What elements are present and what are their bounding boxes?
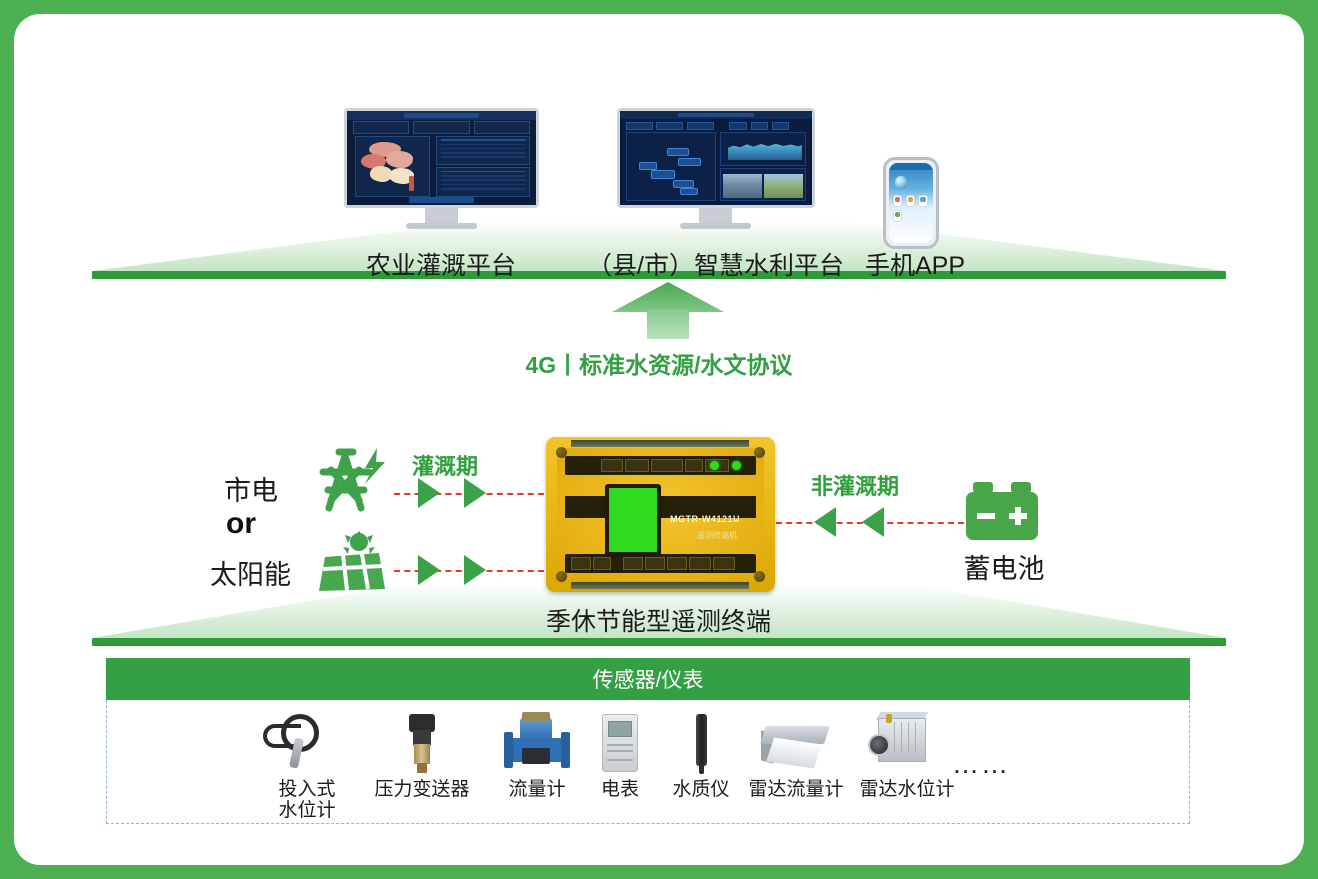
flow-arrow-right xyxy=(464,555,486,585)
battery-icon xyxy=(966,482,1038,540)
tab-chip[interactable] xyxy=(729,122,746,130)
meter-line xyxy=(607,744,633,746)
app-icon[interactable] xyxy=(893,210,902,222)
sensor-item-submersible-level-gauge[interactable]: 投入式 水位计 xyxy=(259,712,355,821)
table-row xyxy=(441,175,526,177)
sensor-panel-header: 传感器/仪表 xyxy=(106,658,1190,700)
network-topology-map xyxy=(626,132,716,202)
vent-line xyxy=(901,722,902,752)
sensor-label: 雷达水位计 xyxy=(854,780,960,801)
rtu-port xyxy=(623,557,643,570)
source-label-solar: 太阳能 xyxy=(210,553,291,592)
trend-chart-panel xyxy=(720,132,806,167)
rtu-device[interactable]: MGTR-W4121U 遥测终端机 xyxy=(546,437,775,592)
monitor-screen xyxy=(344,108,539,208)
table-row xyxy=(441,156,526,158)
monitor-foot xyxy=(406,223,477,229)
meter-line xyxy=(607,759,633,761)
solar-panel-icon xyxy=(317,531,393,593)
app-icon[interactable] xyxy=(893,195,902,207)
vent-line xyxy=(894,722,895,752)
rtu-port xyxy=(571,557,591,570)
vent-line xyxy=(908,722,909,752)
flow-arrow-left xyxy=(862,507,884,537)
sensor-item-radar-flow-meter[interactable]: 雷达流量计 xyxy=(741,712,851,801)
shelf-base-bar xyxy=(92,638,1226,646)
table-header xyxy=(441,139,526,141)
app-icon[interactable] xyxy=(918,195,927,207)
rtu-port xyxy=(651,459,683,472)
flow-meter-icon xyxy=(492,712,582,776)
sensor-item-pressure-transmitter[interactable]: 压力变送器 xyxy=(366,712,478,801)
rtu-port xyxy=(685,459,703,472)
topology-node xyxy=(673,180,694,188)
rtu-caption: 季休节能型遥测终端 xyxy=(546,602,1006,638)
battery-minus xyxy=(977,513,995,519)
device-agri-irrigation-platform[interactable] xyxy=(344,108,539,228)
device-label-agri: 农业灌溉平台 xyxy=(366,246,516,282)
table-header xyxy=(441,171,526,173)
battery-label: 蓄电池 xyxy=(914,547,1094,586)
device-label-water: （县/市）智慧水利平台 xyxy=(587,246,844,282)
sensor-label: 雷达流量计 xyxy=(741,780,851,801)
dashboard-titlebar xyxy=(347,111,536,120)
sensor-item-flow-meter[interactable]: 流量计 xyxy=(492,712,582,801)
meter-body-shape xyxy=(522,748,550,764)
rtu-display xyxy=(605,484,661,556)
tab-chip[interactable] xyxy=(626,122,653,130)
rtu-port xyxy=(593,557,611,570)
device-smart-water-platform[interactable] xyxy=(617,108,815,228)
map-region xyxy=(386,151,412,167)
tab-chip[interactable] xyxy=(772,122,789,130)
topology-node xyxy=(667,148,688,156)
topology-node xyxy=(639,162,657,169)
phase-label-non-irrigation: 非灌溉期 xyxy=(811,469,899,501)
brass-shape xyxy=(414,744,430,764)
rtu-port xyxy=(713,557,735,570)
region-map xyxy=(355,136,431,196)
camera-snapshot xyxy=(764,174,803,199)
rtu-screw xyxy=(754,447,765,458)
kpi-card xyxy=(353,121,410,133)
rtu-bottom-rail xyxy=(571,582,749,589)
sensor-label: 水质仪 xyxy=(664,780,738,801)
app-icon[interactable] xyxy=(906,195,915,207)
phone-statusbar xyxy=(889,163,933,170)
probe-tip-shape xyxy=(699,764,704,774)
table-row xyxy=(441,184,526,186)
topology-node xyxy=(678,158,701,166)
camera-feed-panel xyxy=(720,168,806,201)
kpi-card xyxy=(413,121,470,133)
thread-shape xyxy=(417,763,427,773)
kpi-card xyxy=(474,121,531,133)
battery-body xyxy=(966,492,1038,540)
table-row xyxy=(441,179,526,181)
app-glyph xyxy=(908,197,913,202)
table-row xyxy=(441,148,526,150)
protocol-label: 4G丨标准水资源/水文协议 xyxy=(14,346,1304,380)
rtu-port xyxy=(601,459,623,472)
rtu-port xyxy=(689,557,711,570)
flow-arrow-right xyxy=(418,555,440,585)
rtu-port xyxy=(645,557,665,570)
flange-shape xyxy=(504,732,513,768)
rtu-screw xyxy=(556,447,567,458)
sensor-item-electricity-meter[interactable]: 电表 xyxy=(582,712,658,801)
table-row xyxy=(441,144,526,146)
dashboard-footer xyxy=(409,197,473,203)
flow-arrow-right xyxy=(418,478,440,508)
globe-icon xyxy=(895,176,906,190)
power-tower-icon xyxy=(315,442,393,514)
sensor-item-water-quality-analyzer[interactable]: 水质仪 xyxy=(664,712,738,801)
tab-chip[interactable] xyxy=(751,122,768,130)
rtu-top-rail xyxy=(571,440,749,447)
rtu-power-led xyxy=(710,461,719,470)
table-row xyxy=(441,188,526,190)
rtu-faceplate: MGTR-W4121U 遥测终端机 xyxy=(557,448,764,581)
arrow-tail xyxy=(647,309,689,339)
table-row xyxy=(441,152,526,154)
topology-node xyxy=(651,170,674,178)
sensor-item-radar-level-gauge[interactable]: 雷达水位计 xyxy=(854,712,960,801)
up-arrow-icon xyxy=(612,282,724,338)
device-label-app: 手机APP xyxy=(865,246,965,282)
sensor-label: 投入式 水位计 xyxy=(259,780,355,821)
flow-arrow-right xyxy=(464,478,486,508)
flange-shape xyxy=(561,732,570,768)
vent-line xyxy=(915,722,916,752)
app-glyph xyxy=(895,197,900,202)
more-sensors-ellipsis: …… xyxy=(952,749,1010,780)
sensor-label: 压力变送器 xyxy=(366,780,478,801)
phase-label-irrigation: 灌溉期 xyxy=(412,449,478,481)
sensor-label: 流量计 xyxy=(492,780,582,801)
rtu-port xyxy=(667,557,687,570)
meter-lcd-shape xyxy=(608,721,632,737)
device-mobile-app[interactable] xyxy=(883,157,939,249)
trend-chart xyxy=(728,140,802,160)
map-legend xyxy=(409,176,415,191)
electricity-meter-icon xyxy=(582,712,658,776)
dashboard-agri xyxy=(347,111,536,205)
phone-screen xyxy=(889,163,933,243)
rtu-model-text: MGTR-W4121U xyxy=(670,514,740,524)
probe-body-shape xyxy=(696,714,707,766)
data-table xyxy=(436,167,531,196)
monitor-foot xyxy=(680,223,751,229)
meter-cap-shape xyxy=(522,712,550,721)
meter-head-shape xyxy=(520,718,552,740)
flow-arrow-left xyxy=(814,507,836,537)
data-table xyxy=(436,136,531,164)
diagram-frame: 农业灌溉平台 xyxy=(14,14,1304,865)
radar-level-icon xyxy=(854,712,960,776)
dashboard-titlebar xyxy=(620,111,812,119)
radar-flow-icon xyxy=(741,712,851,776)
source-label-mains: 市电 xyxy=(224,469,278,508)
battery-plus-v xyxy=(1015,507,1021,525)
sensor-label: 电表 xyxy=(582,780,658,801)
submersible-level-icon xyxy=(259,712,355,776)
rtu-port xyxy=(625,459,649,472)
camera-snapshot xyxy=(723,174,762,199)
radar-lens-shape xyxy=(868,734,890,756)
app-glyph xyxy=(920,197,925,202)
arrow-head xyxy=(612,282,724,312)
rtu-run-led xyxy=(732,461,741,470)
app-glyph xyxy=(895,212,900,217)
rtu-screw xyxy=(556,571,567,582)
rtu-screw xyxy=(754,571,765,582)
monitor-screen xyxy=(617,108,815,208)
rtu-subtitle-text: 遥测终端机 xyxy=(697,530,737,541)
antenna-shape xyxy=(886,714,892,723)
tab-chip[interactable] xyxy=(687,122,714,130)
dashboard-water xyxy=(620,111,812,205)
pressure-transmitter-icon xyxy=(366,712,478,776)
water-quality-icon xyxy=(664,712,738,776)
tab-chip[interactable] xyxy=(656,122,683,130)
meter-line xyxy=(607,750,633,752)
topology-node xyxy=(680,188,698,195)
diagram-stage: 农业灌溉平台 xyxy=(14,14,1304,865)
or-label: or xyxy=(226,507,256,541)
